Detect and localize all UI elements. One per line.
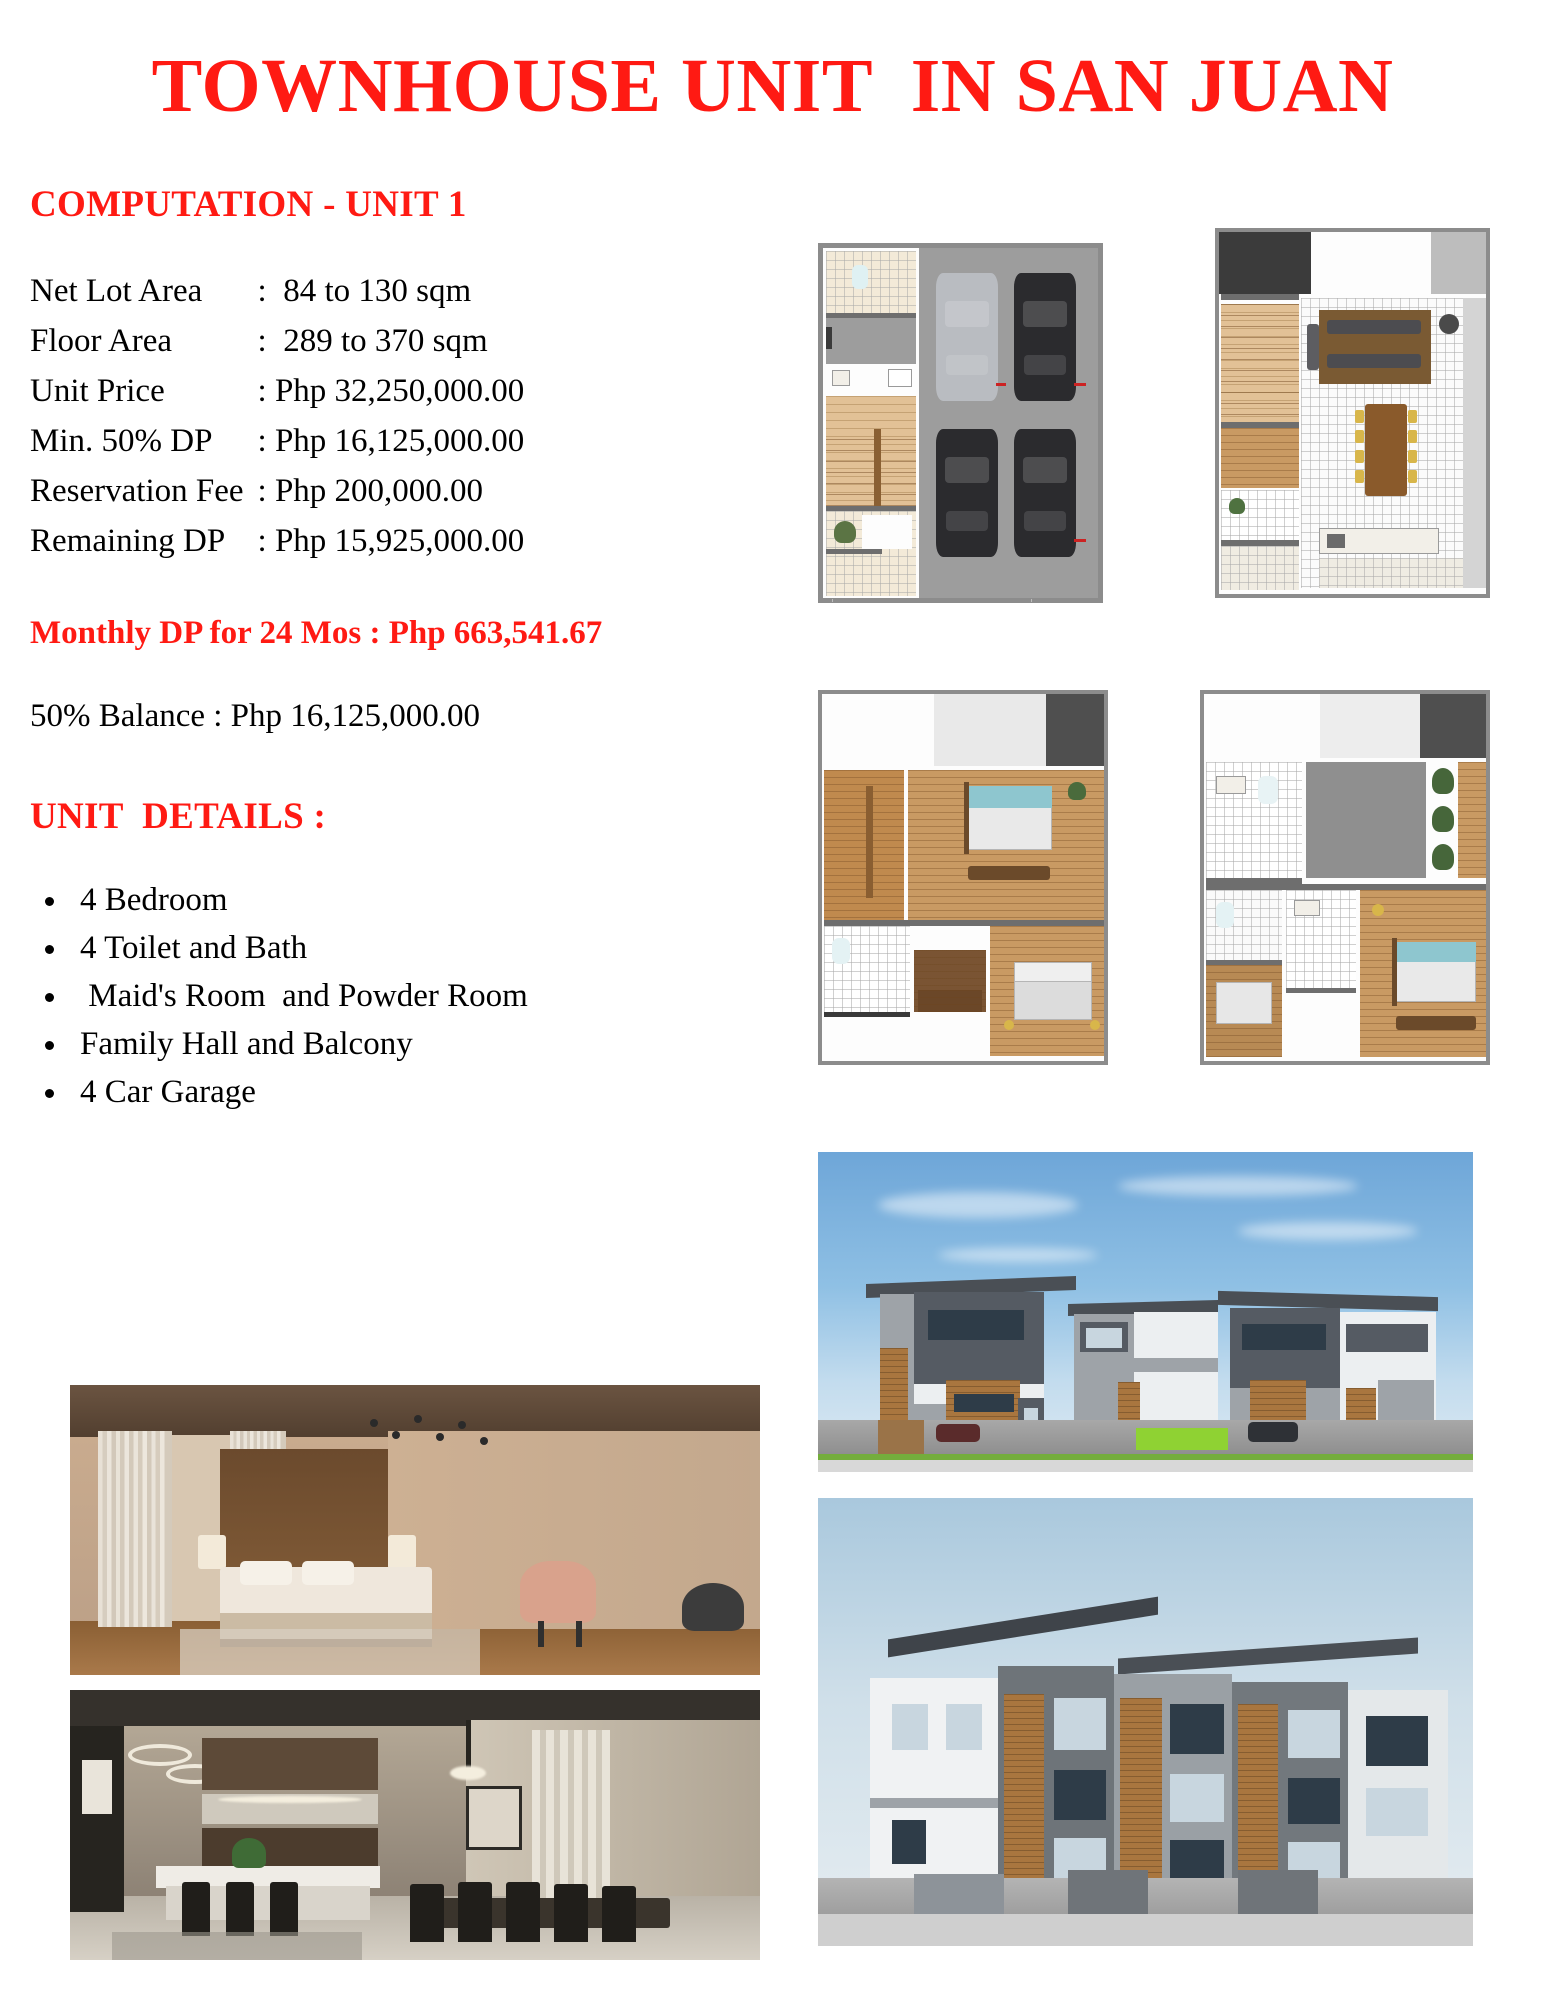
ground-floor-garage-plan — [818, 243, 1103, 603]
spec-value-unit-price: : Php 32,250,000.00 — [254, 366, 525, 416]
second-floor-living-dining-plan — [1215, 228, 1490, 598]
computation-table: Net Lot Area : 84 to 130 sqm Floor Area … — [30, 266, 524, 566]
computation-heading: COMPUTATION - UNIT 1 — [30, 185, 650, 226]
bedroom-interior-photo — [70, 1385, 760, 1675]
list-item: 4 Toilet and Bath — [70, 924, 650, 972]
table-row: Remaining DP : Php 15,925,000.00 — [30, 516, 524, 566]
car-icon — [936, 273, 998, 401]
list-item: Maid's Room and Powder Room — [70, 972, 650, 1020]
table-row: Min. 50% DP : Php 16,125,000.00 — [30, 416, 524, 466]
fourth-floor-bedroom-plan — [1200, 690, 1490, 1065]
table-row: Unit Price : Php 32,250,000.00 — [30, 366, 524, 416]
kitchen-dining-interior-photo — [70, 1690, 760, 1960]
table-row: Reservation Fee : Php 200,000.00 — [30, 466, 524, 516]
page-title: TOWNHOUSE UNIT IN SAN JUAN — [0, 48, 1545, 124]
spec-label-unit-price: Unit Price — [30, 366, 254, 416]
table-row: Net Lot Area : 84 to 130 sqm — [30, 266, 524, 316]
spec-label-remaining-dp: Remaining DP — [30, 516, 254, 566]
car-icon — [936, 429, 998, 557]
spec-value-floor-area: : 289 to 370 sqm — [254, 316, 525, 366]
spec-label-reservation-fee: Reservation Fee — [30, 466, 254, 516]
car-icon — [1014, 273, 1076, 401]
spec-label-min-dp: Min. 50% DP — [30, 416, 254, 466]
spec-value-reservation-fee: : Php 200,000.00 — [254, 466, 525, 516]
left-content-column: COMPUTATION - UNIT 1 Net Lot Area : 84 t… — [30, 185, 650, 1116]
exterior-front-render — [818, 1152, 1473, 1472]
spec-value-min-dp: : Php 16,125,000.00 — [254, 416, 525, 466]
unit-details-list: 4 Bedroom 4 Toilet and Bath Maid's Room … — [70, 876, 650, 1116]
spec-label-net-lot-area: Net Lot Area — [30, 266, 254, 316]
spec-value-remaining-dp: : Php 15,925,000.00 — [254, 516, 525, 566]
unit-details-heading: UNIT DETAILS : — [30, 795, 650, 838]
balance-line: 50% Balance : Php 16,125,000.00 — [30, 697, 650, 737]
third-floor-bedroom-plan — [818, 690, 1108, 1065]
list-item: Family Hall and Balcony — [70, 1020, 650, 1068]
table-row: Floor Area : 289 to 370 sqm — [30, 316, 524, 366]
monthly-dp-line: Monthly DP for 24 Mos : Php 663,541.67 — [30, 614, 650, 654]
list-item: 4 Bedroom — [70, 876, 650, 924]
car-icon — [1014, 429, 1076, 557]
spec-label-floor-area: Floor Area — [30, 316, 254, 366]
spec-value-net-lot-area: : 84 to 130 sqm — [254, 266, 525, 316]
list-item: 4 Car Garage — [70, 1068, 650, 1116]
exterior-side-render — [818, 1498, 1473, 1946]
